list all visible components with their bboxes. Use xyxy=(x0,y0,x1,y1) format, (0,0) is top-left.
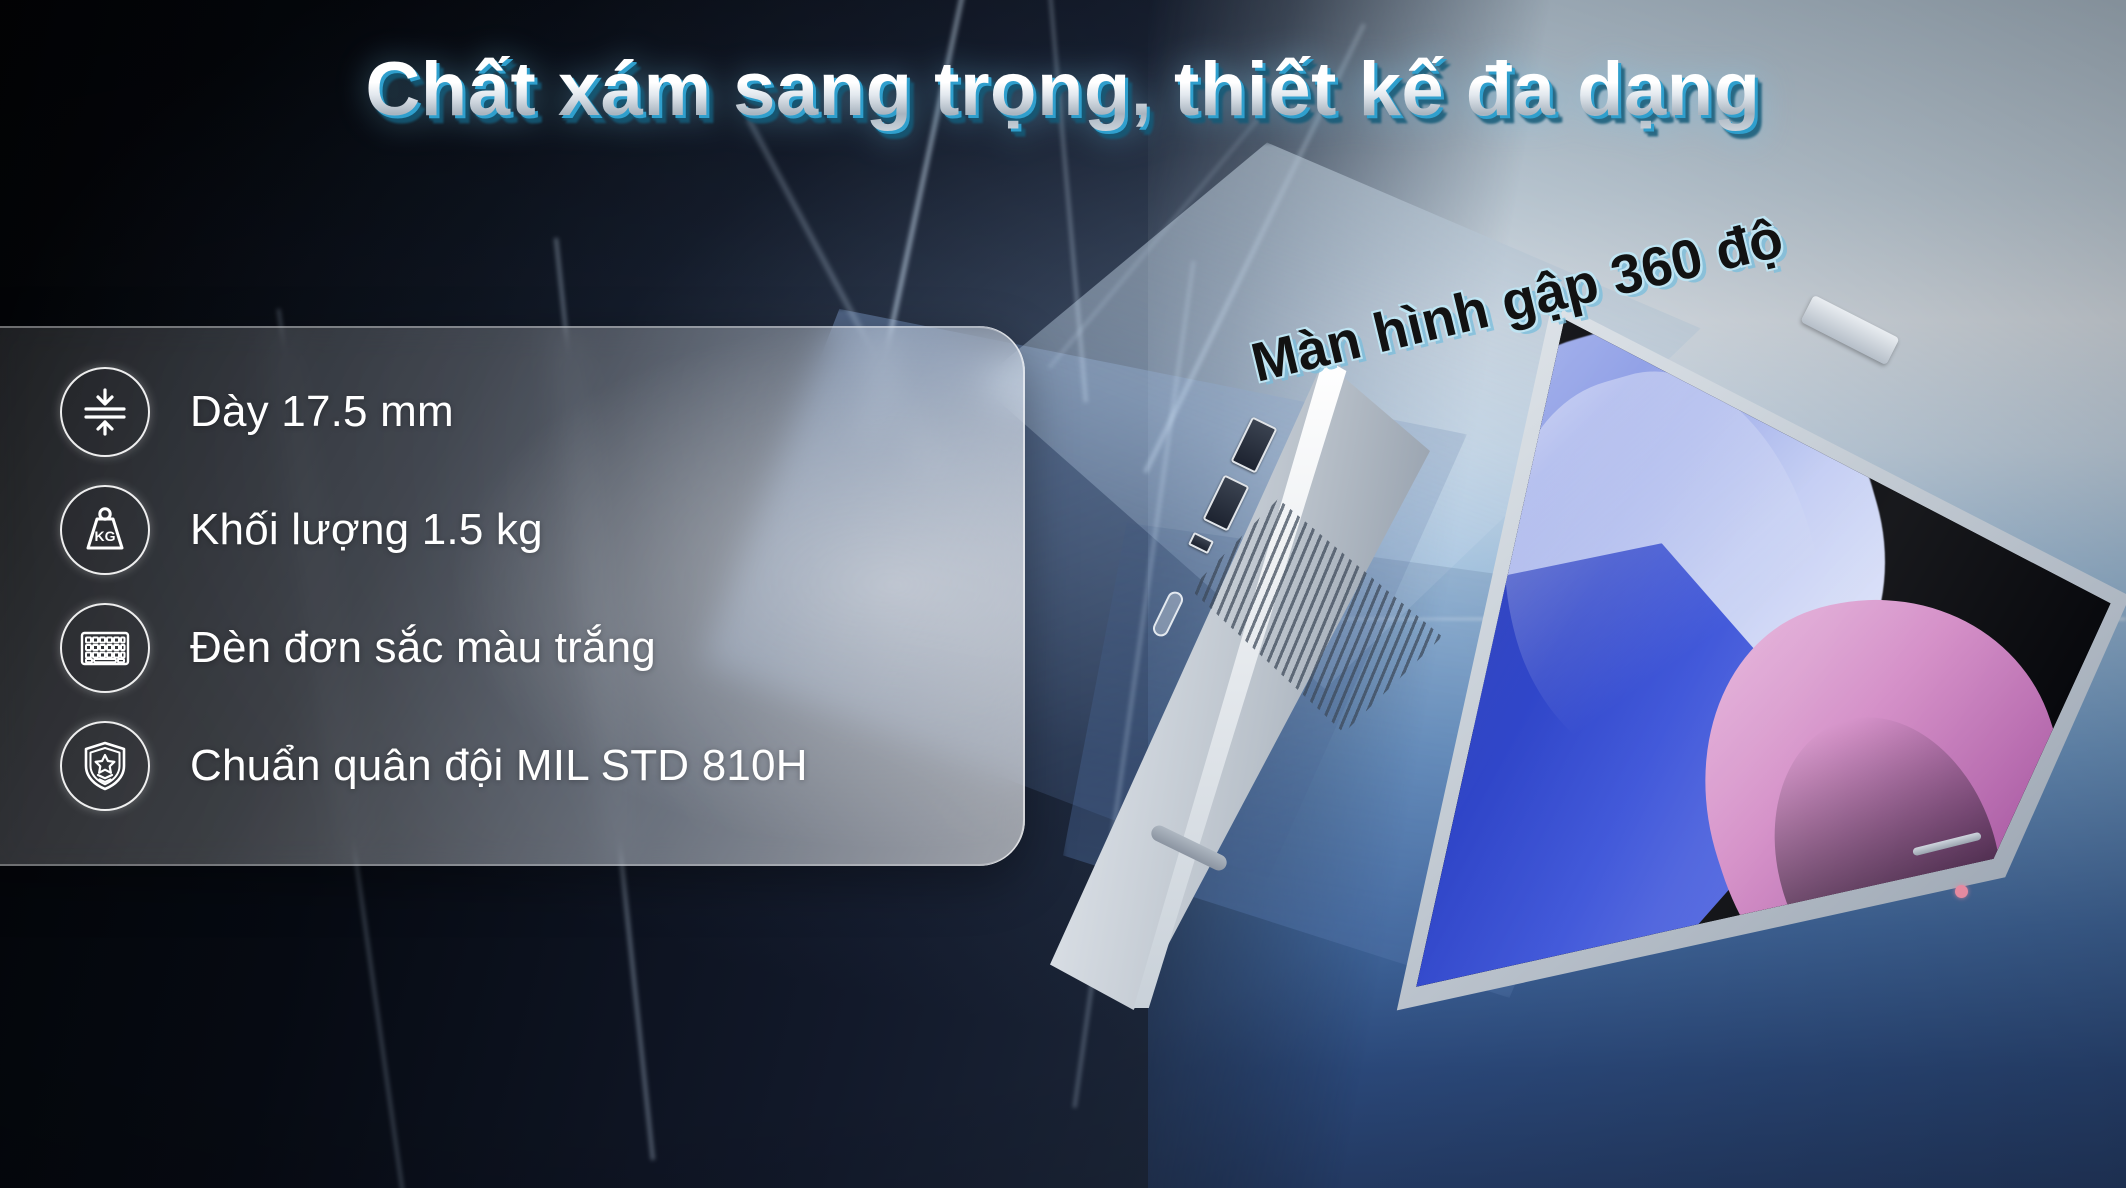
usb-port-icon xyxy=(1230,416,1277,473)
thickness-icon xyxy=(60,367,150,457)
card-slot-icon xyxy=(1188,532,1214,554)
feature-row-thickness: Dày 17.5 mm xyxy=(60,366,1025,458)
weight-kg-icon: KG xyxy=(60,485,150,575)
svg-text:KG: KG xyxy=(95,528,116,544)
laptop-display xyxy=(1350,300,2126,1040)
usb-port-icon xyxy=(1202,474,1249,531)
page-title: Chất xám sang trọng, thiết kế đa dạng xyxy=(0,46,2126,133)
feature-row-weight: KG Khối lượng 1.5 kg xyxy=(60,484,1025,576)
feature-card: Dày 17.5 mm KG Khối lượng 1.5 kg xyxy=(0,326,1025,866)
feature-list: Dày 17.5 mm KG Khối lượng 1.5 kg xyxy=(0,326,1025,812)
feature-row-military-standard: Chuẩn quân đội MIL STD 810H xyxy=(60,720,1025,812)
keyboard-backlight-icon xyxy=(60,603,150,693)
feature-label: Chuẩn quân đội MIL STD 810H xyxy=(190,741,808,791)
laptop-hinge xyxy=(1801,295,1900,365)
power-button-icon xyxy=(1150,589,1185,639)
feature-label: Đèn đơn sắc màu trắng xyxy=(190,623,656,673)
camera-indicator-icon xyxy=(1955,885,1968,898)
laptop-tent-mode-image xyxy=(1020,300,2126,1100)
military-shield-icon xyxy=(60,721,150,811)
feature-row-backlight: Đèn đơn sắc màu trắng xyxy=(60,602,1025,694)
feature-label: Khối lượng 1.5 kg xyxy=(190,505,543,555)
product-banner: Chất xám sang trọng, thiết kế đa dạng xyxy=(0,0,2126,1188)
feature-label: Dày 17.5 mm xyxy=(190,387,454,437)
